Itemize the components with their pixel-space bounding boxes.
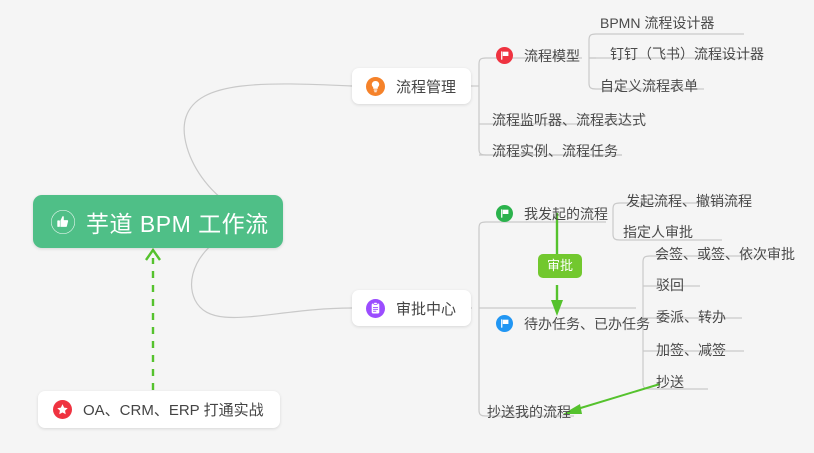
leaf-label: 会签、或签、依次审批 — [655, 246, 795, 262]
leaf-label: 抄送 — [656, 374, 684, 390]
annotation-chip-label: 审批 — [547, 258, 573, 273]
arrow-note-head — [146, 250, 160, 260]
node-todo-done-tasks[interactable]: 待办任务、已办任务 — [493, 312, 650, 335]
leaf-label: BPMN 流程设计器 — [600, 15, 714, 31]
leaf-label: 委派、转办 — [656, 309, 726, 325]
flag-icon — [493, 202, 516, 225]
branch-label-process-management: 流程管理 — [396, 76, 456, 97]
flag-icon — [493, 44, 516, 67]
leaf-label: 指定人审批 — [623, 224, 693, 240]
leaf-start-cancel-process[interactable]: 发起流程、撤销流程 — [626, 191, 752, 211]
leaf-reject[interactable]: 驳回 — [656, 275, 684, 295]
node-label-process-model: 流程模型 — [524, 46, 580, 66]
leaf-cc[interactable]: 抄送 — [656, 372, 684, 392]
leaf-dingtalk-designer[interactable]: 钉钉（飞书）流程设计器 — [610, 44, 764, 64]
leaf-label: 自定义流程表单 — [600, 78, 698, 94]
leaf-label: 流程监听器、流程表达式 — [492, 112, 646, 128]
node-process-model[interactable]: 流程模型 — [493, 44, 580, 67]
branch-card-approval-center[interactable]: 审批中心 — [352, 290, 471, 326]
branch-card-process-management[interactable]: 流程管理 — [352, 68, 471, 104]
wire-model-child-1 — [589, 34, 744, 40]
leaf-label: 加签、减签 — [656, 342, 726, 358]
thumbs-up-icon — [51, 210, 75, 234]
leaf-label: 驳回 — [656, 277, 684, 293]
star-icon — [51, 398, 74, 421]
node-my-initiated[interactable]: 我发起的流程 — [493, 202, 608, 225]
leaf-delegate-transfer[interactable]: 委派、转办 — [656, 307, 726, 327]
leaf-cc-to-me[interactable]: 抄送我的流程 — [487, 402, 571, 422]
leaf-process-listener[interactable]: 流程监听器、流程表达式 — [492, 110, 646, 130]
annotation-chip-approval: 审批 — [538, 254, 582, 278]
leaf-label: 发起流程、撤销流程 — [626, 193, 752, 209]
leaf-add-remove-sign[interactable]: 加签、减签 — [656, 340, 726, 360]
leaf-assigned-approval[interactable]: 指定人审批 — [623, 222, 693, 242]
note-card-integration[interactable]: OA、CRM、ERP 打通实战 — [38, 391, 280, 428]
leaf-label: 钉钉（飞书）流程设计器 — [610, 46, 764, 62]
leaf-bpmn-designer[interactable]: BPMN 流程设计器 — [600, 13, 714, 33]
leaf-label: 流程实例、流程任务 — [492, 143, 618, 159]
note-card-label: OA、CRM、ERP 打通实战 — [83, 399, 264, 420]
leaf-process-instance[interactable]: 流程实例、流程任务 — [492, 141, 618, 161]
arrow-cc-shaft — [574, 384, 660, 410]
branch-label-approval-center: 审批中心 — [396, 298, 456, 319]
lightbulb-icon — [364, 75, 387, 98]
leaf-countersign[interactable]: 会签、或签、依次审批 — [655, 244, 795, 264]
node-label-todo-done-tasks: 待办任务、已办任务 — [524, 314, 650, 334]
clipboard-icon — [364, 297, 387, 320]
root-label: 芋道 BPM 工作流 — [86, 205, 269, 239]
mindmap-canvas: 芋道 BPM 工作流 流程管理 流程模型 BPMN 流程设计器 钉钉（飞书）流程 — [0, 0, 814, 453]
leaf-custom-form[interactable]: 自定义流程表单 — [600, 76, 698, 96]
flag-icon — [493, 312, 516, 335]
node-label-my-initiated: 我发起的流程 — [524, 204, 608, 224]
leaf-label: 抄送我的流程 — [487, 404, 571, 420]
root-node[interactable]: 芋道 BPM 工作流 — [33, 195, 283, 248]
